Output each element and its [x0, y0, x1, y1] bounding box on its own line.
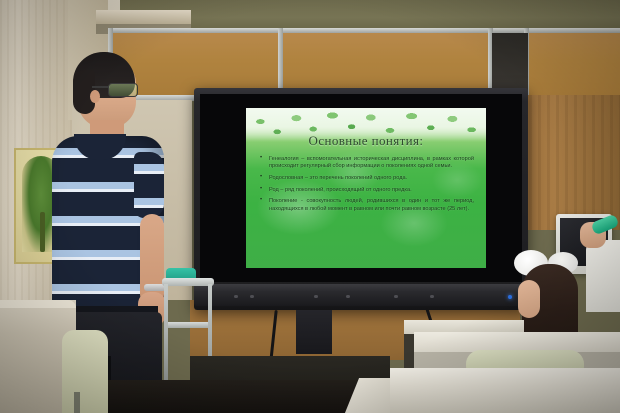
overhead-shelf-edge — [96, 10, 191, 24]
left-desk-edge — [0, 300, 76, 308]
list-item: Поколение - совокупность людей, родивших… — [260, 198, 474, 212]
bezel-button-4[interactable] — [346, 295, 350, 298]
bezel-button-2[interactable] — [250, 295, 254, 298]
poster-trunk — [40, 212, 45, 252]
cabinet-rail-top — [108, 28, 620, 33]
right-wood-wall — [520, 95, 620, 230]
student-face — [518, 280, 540, 318]
presentation-slide: Основные понятия: Генеалогия – вспомогат… — [246, 108, 486, 268]
cart-leg-left — [164, 284, 168, 384]
bezel-button-6[interactable] — [430, 295, 434, 298]
left-chair — [62, 330, 108, 413]
list-item: Род – ряд поколений, происходящий от одн… — [260, 187, 474, 194]
display-stand — [296, 310, 332, 354]
cabinet-gap — [492, 33, 528, 96]
display-screen: Основные понятия: Генеалогия – вспомогат… — [200, 94, 522, 282]
classroom-photo: Основные понятия: Генеалогия – вспомогат… — [0, 0, 620, 413]
bezel-button-1[interactable] — [234, 295, 238, 298]
glasses-icon — [108, 83, 138, 97]
bezel-button-5[interactable] — [394, 295, 398, 298]
cart-lower-shelf — [164, 322, 212, 328]
list-item: Генеалогия – вспомогательная историческа… — [260, 156, 474, 170]
interactive-display[interactable]: Основные понятия: Генеалогия – вспомогат… — [194, 88, 528, 310]
cart-top-shelf — [162, 278, 214, 286]
shirt-sleeve — [134, 152, 164, 218]
bezel-button-3[interactable] — [314, 295, 318, 298]
slide-bullet-list: Генеалогия – вспомогательная историческа… — [260, 156, 474, 217]
presenter-ear — [90, 90, 100, 103]
slide-title: Основные понятия: — [246, 133, 486, 149]
front-desk — [390, 368, 620, 413]
list-item: Родословная – это перечень поколений одн… — [260, 175, 474, 182]
display-bottom-bezel[interactable] — [194, 284, 528, 306]
left-chair-leg — [74, 392, 80, 413]
